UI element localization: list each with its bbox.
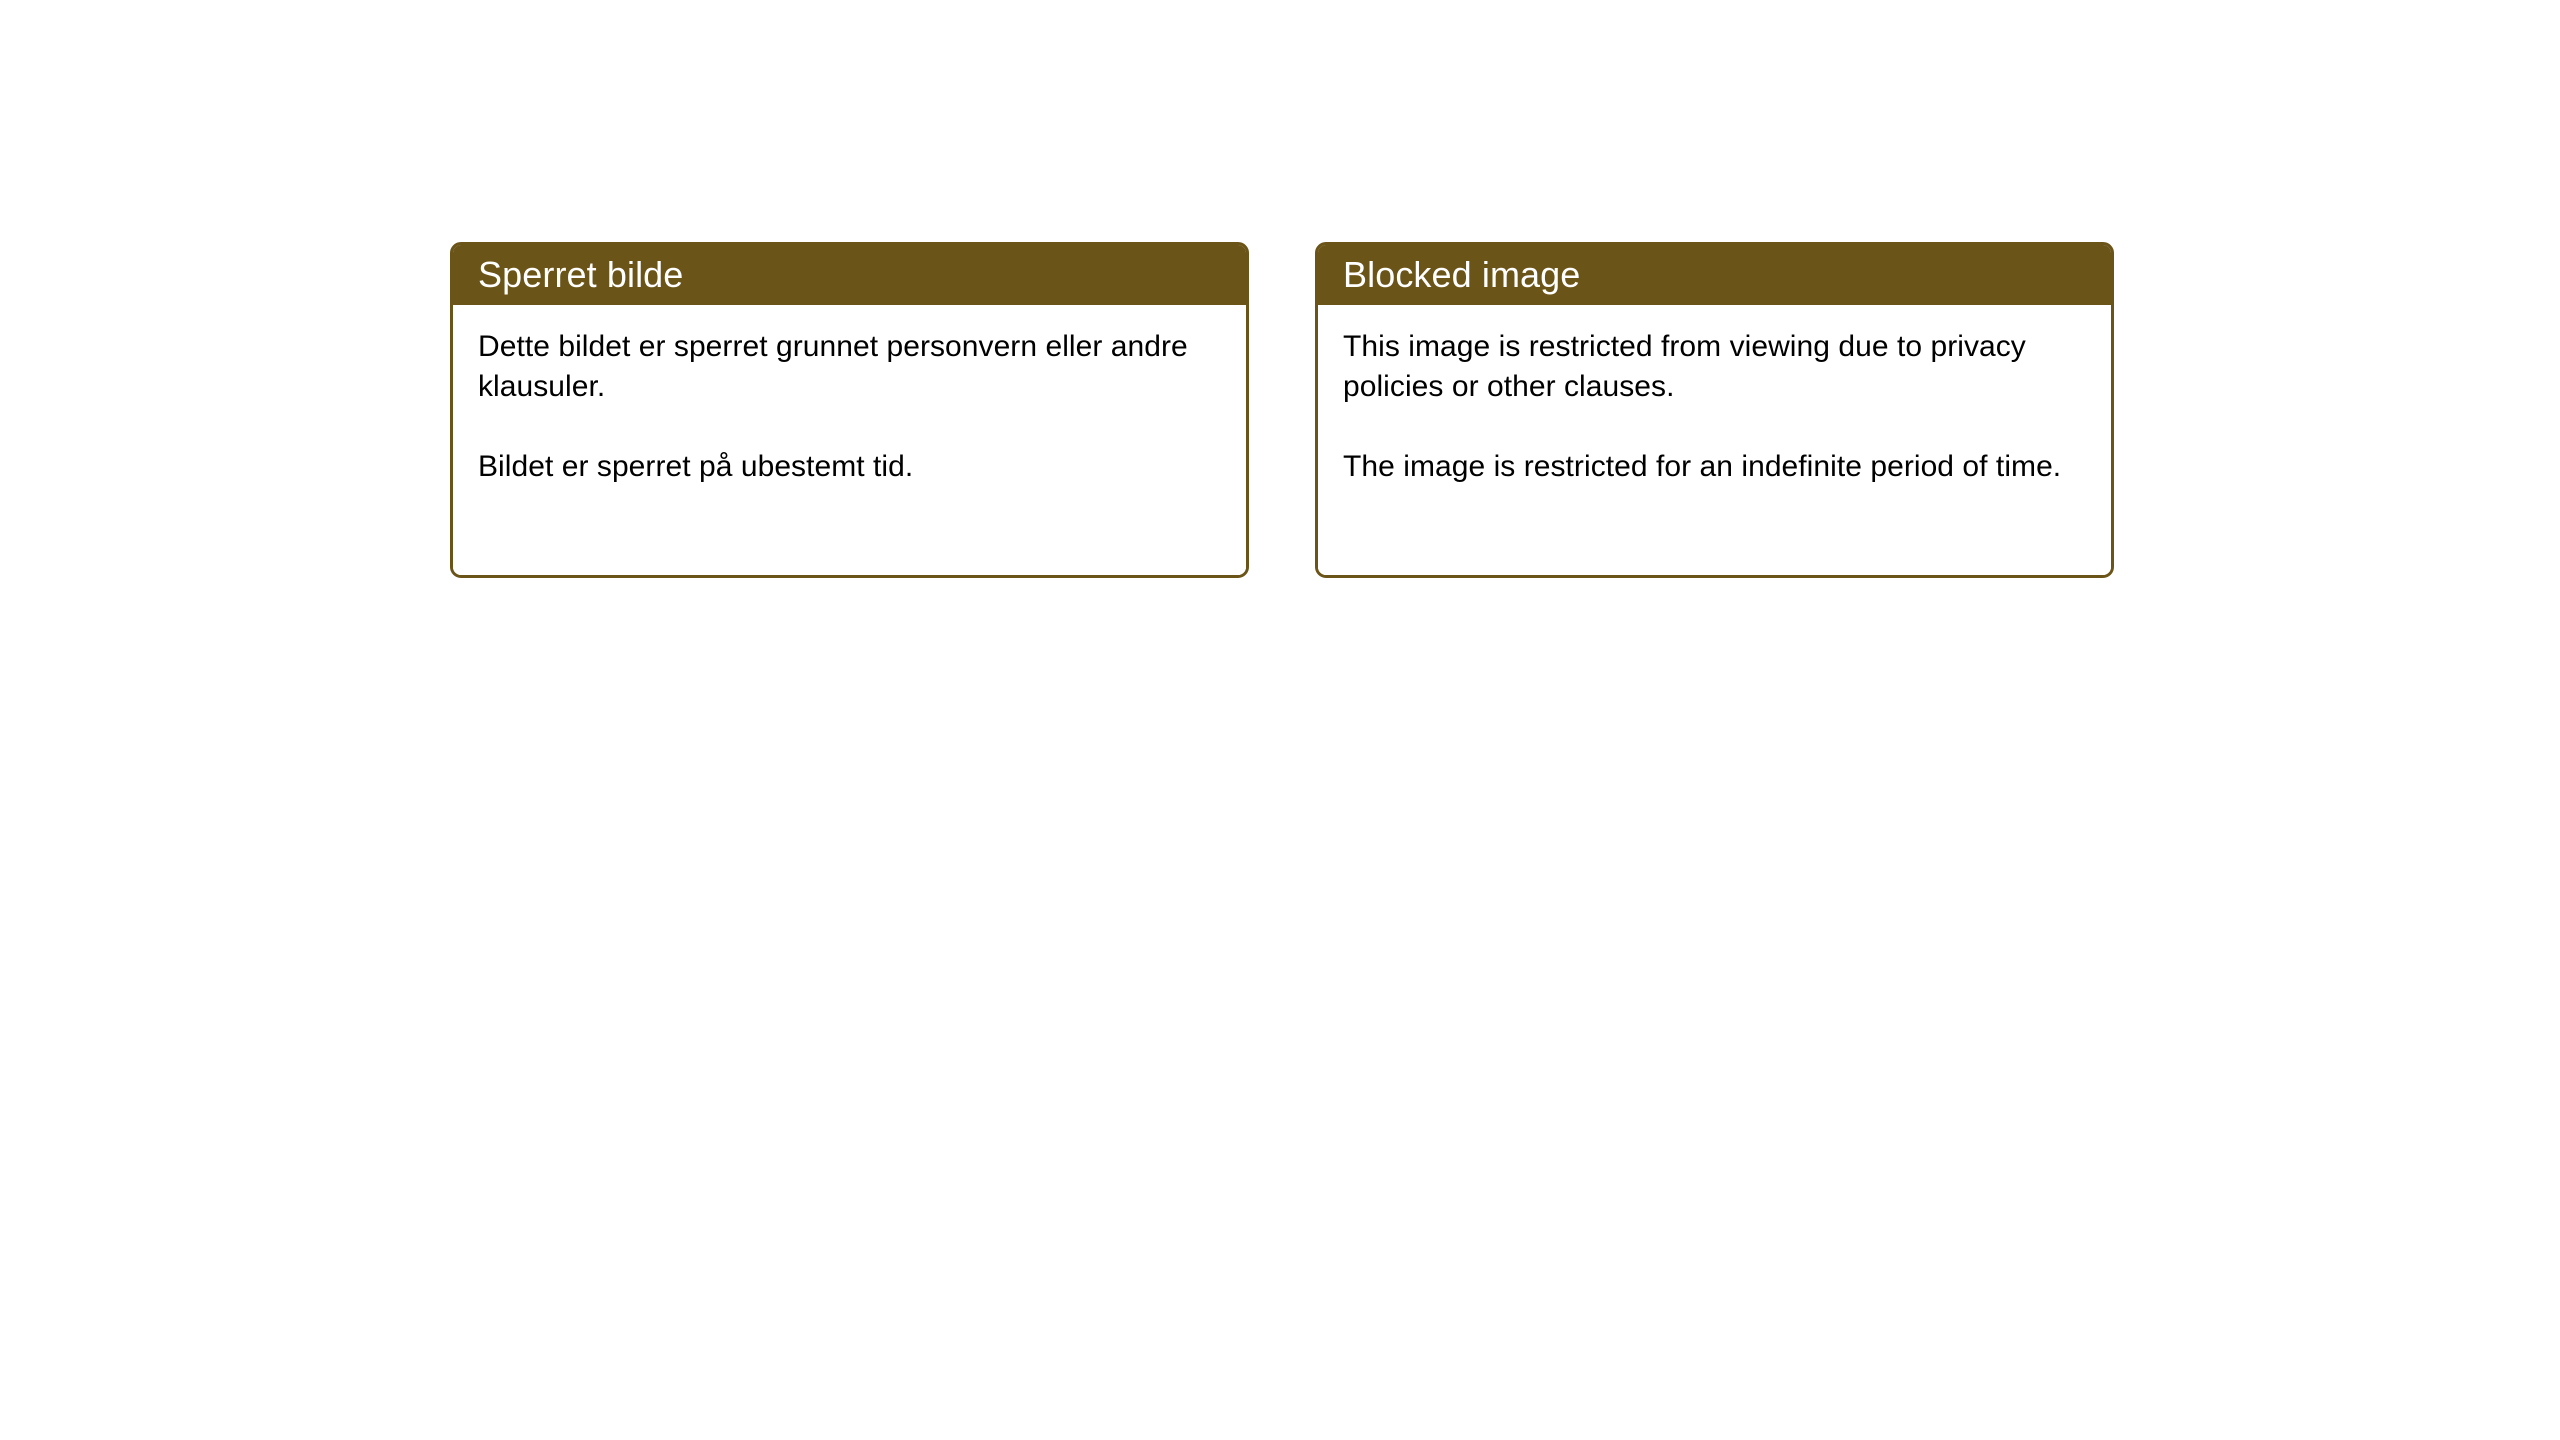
blocked-image-card-english: Blocked image This image is restricted f… xyxy=(1315,242,2114,578)
card-header-english: Blocked image xyxy=(1318,245,2111,305)
blocked-image-card-norwegian: Sperret bilde Dette bildet er sperret gr… xyxy=(450,242,1249,578)
card-title-english: Blocked image xyxy=(1343,255,1580,295)
card-header-norwegian: Sperret bilde xyxy=(453,245,1246,305)
card-paragraph-reason-norwegian: Dette bildet er sperret grunnet personve… xyxy=(478,327,1228,407)
card-paragraph-reason-english: This image is restricted from viewing du… xyxy=(1343,327,2093,407)
page-root: Sperret bilde Dette bildet er sperret gr… xyxy=(0,0,2560,1440)
card-body-english: This image is restricted from viewing du… xyxy=(1318,305,2111,575)
card-paragraph-duration-norwegian: Bildet er sperret på ubestemt tid. xyxy=(478,447,1228,487)
card-paragraph-duration-english: The image is restricted for an indefinit… xyxy=(1343,447,2093,487)
notice-card-group: Sperret bilde Dette bildet er sperret gr… xyxy=(450,242,2114,578)
card-title-norwegian: Sperret bilde xyxy=(478,255,683,295)
card-body-norwegian: Dette bildet er sperret grunnet personve… xyxy=(453,305,1246,575)
